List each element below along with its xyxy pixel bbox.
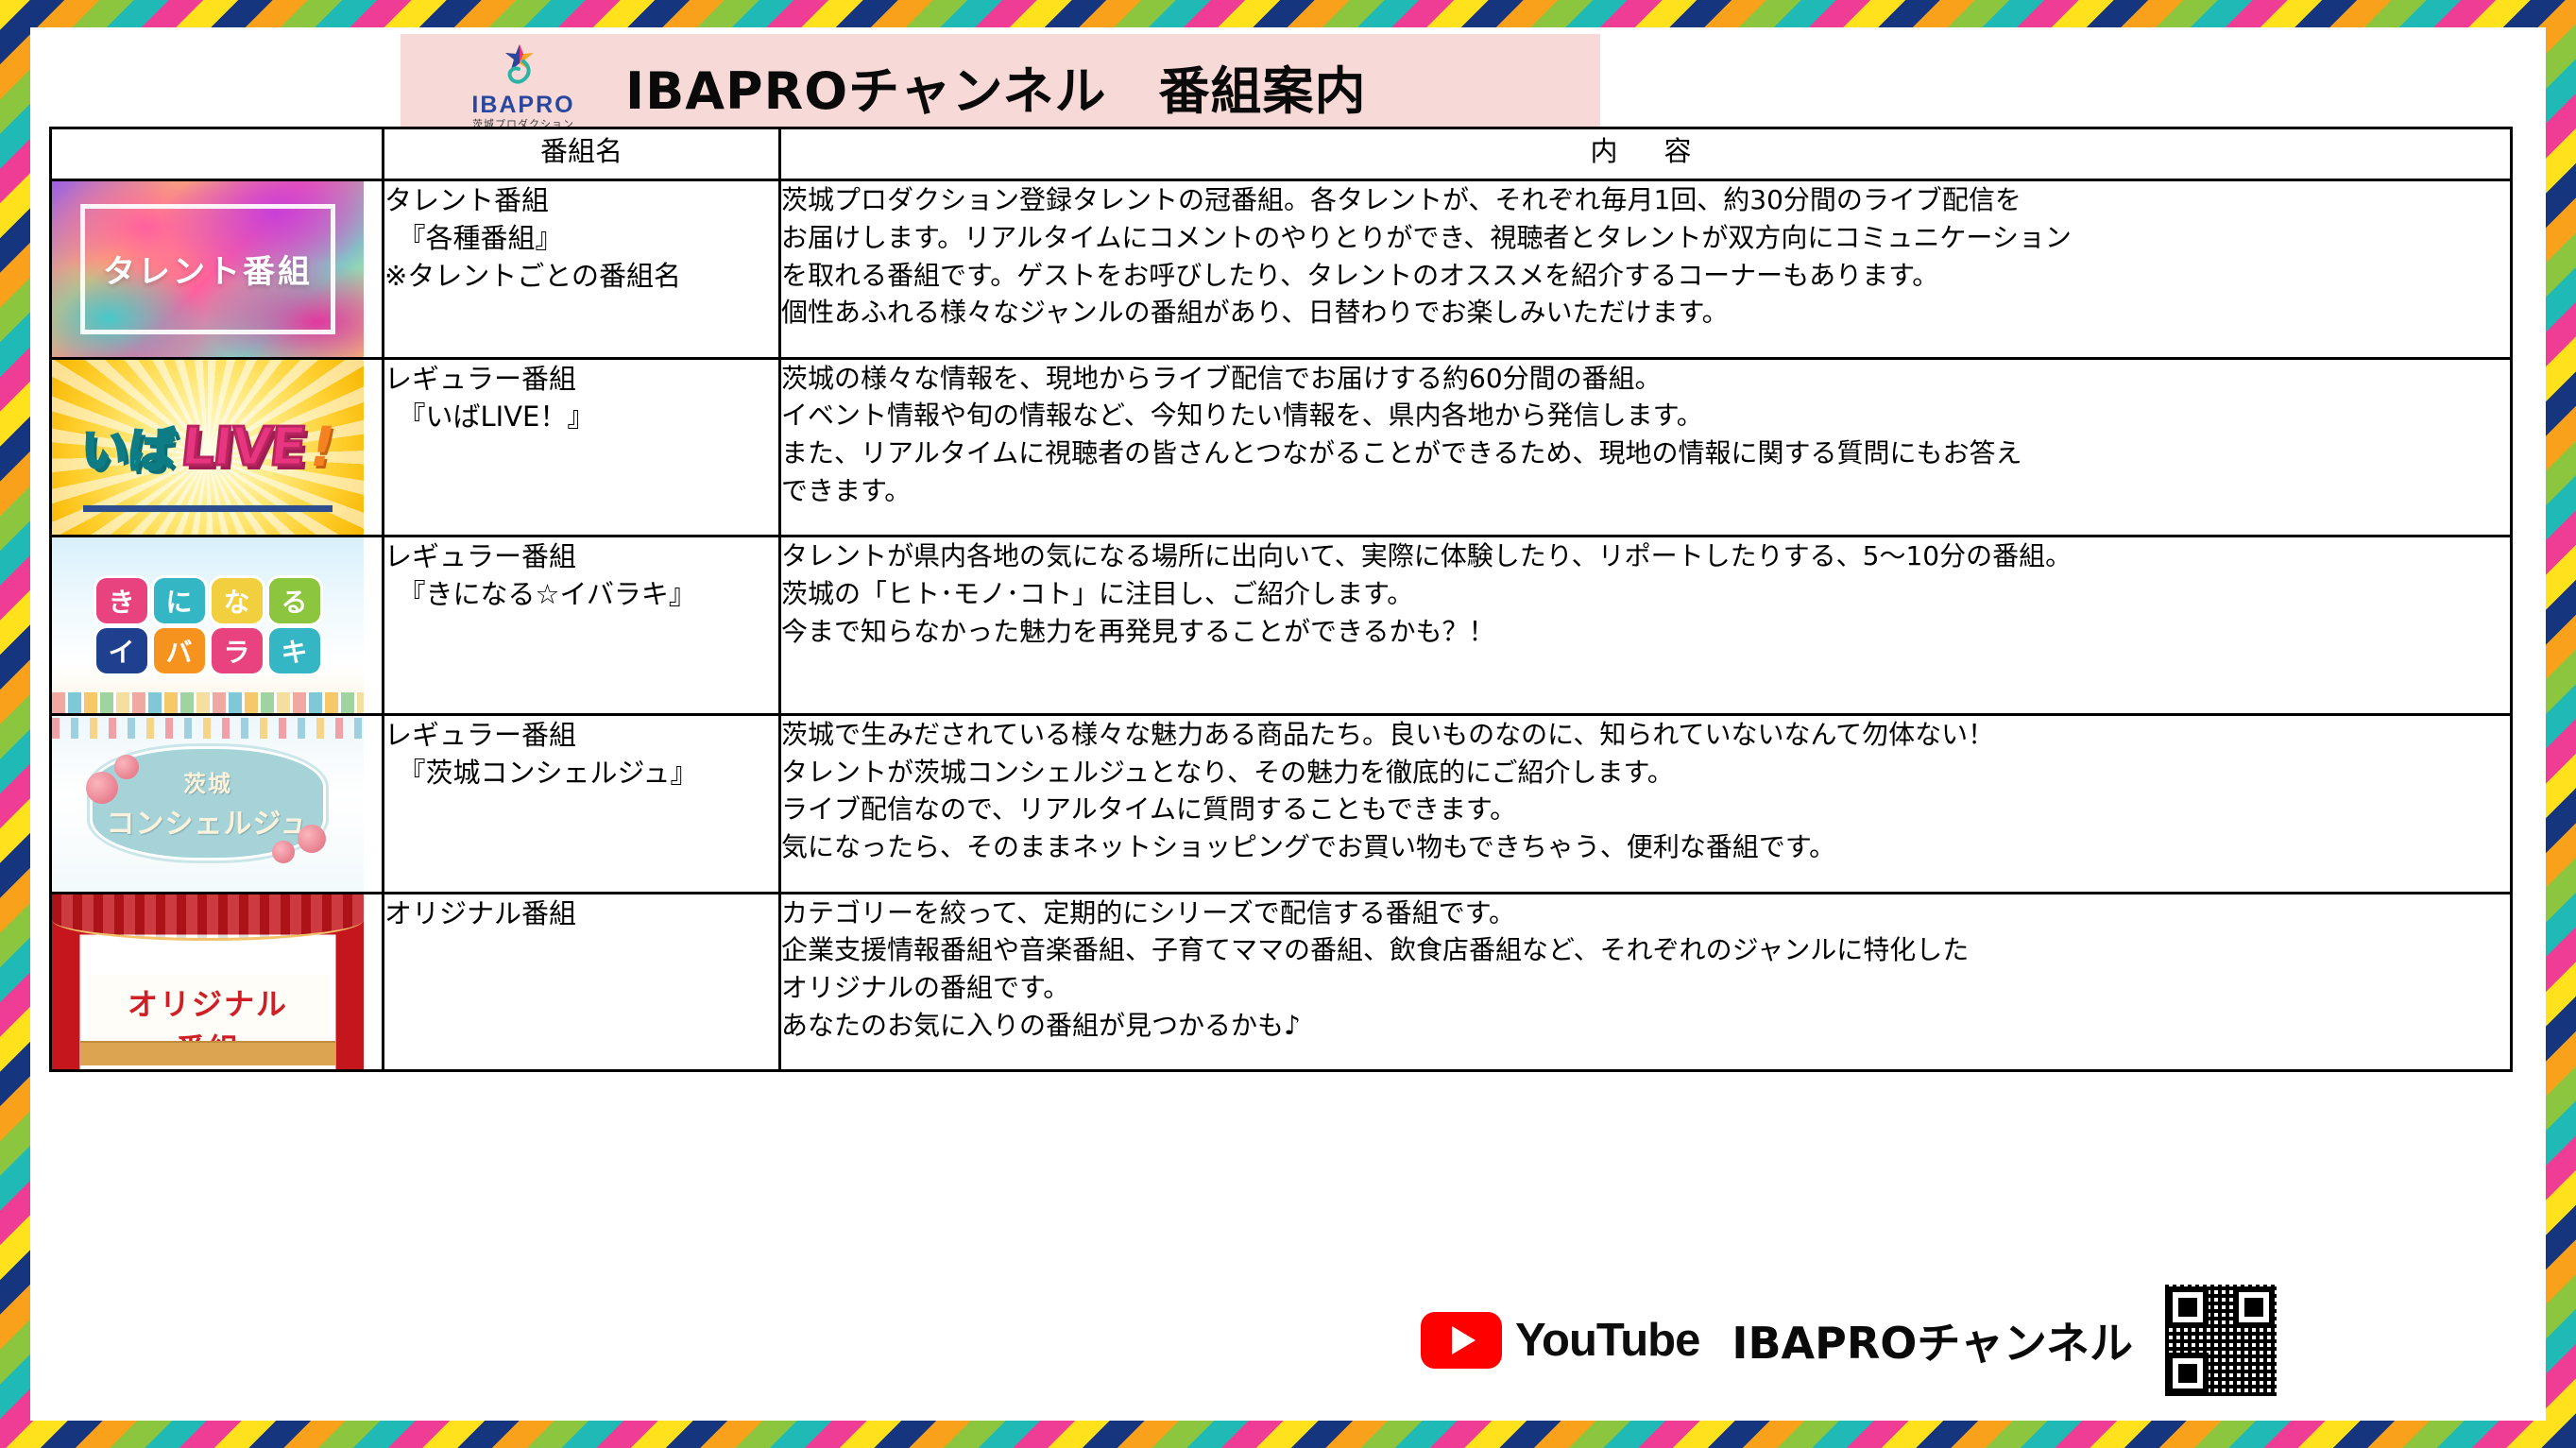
kininaru-tile: き (96, 578, 147, 623)
play-triangle-icon (1452, 1326, 1476, 1354)
program-name-ibalive: レギュラー番組 『いばLIVE！』 (384, 358, 780, 537)
table-header-row: 番組名 内 容 (51, 128, 2512, 180)
thumbnail-ibalive-program: いば LIVE ! (52, 360, 364, 536)
kininaru-tile: バ (154, 628, 205, 673)
thumbnail-kininaru-row2: イ バ ラ キ (96, 628, 320, 673)
table-row: オリジナル 番組 オリジナル番組 カテゴリーを絞って、定期的にシリーズで配信する… (51, 893, 2512, 1071)
program-name-talent: タレント番組 『各種番組』 ※タレントごとの番組名 (384, 180, 780, 359)
program-description-concierge: 茨城で生みだされている様々な魅力ある商品たち。良いものなのに、知られていないなん… (780, 714, 2512, 893)
thumbnail-concierge-program: 茨城 コンシェルジュ (52, 716, 364, 892)
kininaru-tile: に (154, 578, 205, 623)
footer-bar: YouTube IBAPROチャンネル (1421, 1285, 2277, 1396)
original-line1: オリジナル (128, 980, 288, 1024)
lightning-bolt-icon: ! (303, 415, 342, 479)
concierge-line2: コンシェルジュ (107, 800, 310, 842)
table-row: き に な る イ バ ラ キ レギュラー番 (51, 537, 2512, 715)
kininaru-tile: キ (269, 628, 320, 673)
page-title: IBAPROチャンネル 番組案内 (625, 49, 1600, 124)
youtube-logo[interactable]: YouTube (1421, 1312, 1699, 1369)
bunting-flags-icon (52, 718, 364, 739)
ibapro-logo-wordmark: IBAPRO (471, 94, 574, 117)
townscape-illustration (52, 692, 364, 713)
table-row: タレント番組 タレント番組 『各種番組』 ※タレントごとの番組名 茨城プロダクシ… (51, 180, 2512, 359)
thumbnail-talent-program: タレント番組 (52, 181, 364, 357)
thumbnail-live-text: LIVE (178, 417, 307, 478)
header-thumbnail (51, 128, 384, 180)
thumbnail-cell-original: オリジナル 番組 (51, 893, 384, 1071)
kininaru-tile: る (269, 578, 320, 623)
ibapro-star-figure-icon (495, 43, 552, 92)
program-description-kininaru: タレントが県内各地の気になる場所に出向いて、実際に体験したり、リポートしたりする… (780, 537, 2512, 715)
program-description-original: カテゴリーを絞って、定期的にシリーズで配信する番組です。 企業支援情報番組や音楽… (780, 893, 2512, 1071)
kininaru-tile: ラ (212, 628, 263, 673)
program-description-talent: 茨城プロダクション登録タレントの冠番組。各タレントが、それぞれ毎月1回、約30分… (780, 180, 2512, 359)
thumbnail-cell-kininaru: き に な る イ バ ラ キ (51, 537, 384, 715)
rose-icon (272, 841, 295, 863)
thumbnail-underline-bar (83, 505, 333, 512)
thumbnail-ibalive-logo: いば LIVE ! (81, 413, 335, 481)
ibapro-logo: IBAPRO 茨城プロダクション (448, 43, 599, 130)
qr-finder-icon (2167, 1286, 2209, 1328)
concierge-line1: 茨城 (183, 765, 232, 798)
title-banner: IBAPRO 茨城プロダクション IBAPROチャンネル 番組案内 (401, 34, 1600, 138)
thumbnail-kininaru-row1: き に な る (96, 578, 320, 623)
thumbnail-original-program: オリジナル 番組 (52, 894, 364, 1070)
thumbnail-kininaru-program: き に な る イ バ ラ キ (52, 537, 364, 713)
thumbnail-cell-ibalive: いば LIVE ! (51, 358, 384, 537)
thumbnail-cell-talent: タレント番組 (51, 180, 384, 359)
qr-code[interactable] (2165, 1285, 2277, 1396)
stage-floor (80, 1041, 336, 1065)
youtube-wordmark: YouTube (1515, 1314, 1699, 1367)
kininaru-tile: イ (96, 628, 147, 673)
table-row: 茨城 コンシェルジュ レギュラー番組 『茨城コンシェルジュ』 茨城で生みだされて… (51, 714, 2512, 893)
thumbnail-iba-text: いば (78, 413, 178, 481)
program-name-original: オリジナル番組 (384, 893, 780, 1071)
thumbnail-talent-label: タレント番組 (103, 246, 313, 292)
qr-finder-icon (2233, 1286, 2275, 1328)
rose-icon (298, 825, 326, 853)
thumbnail-cell-concierge: 茨城 コンシェルジュ (51, 714, 384, 893)
page-surface: IBAPRO 茨城プロダクション IBAPROチャンネル 番組案内 番組名 内 … (32, 29, 2544, 1419)
header-description: 内 容 (780, 128, 2512, 180)
youtube-play-icon (1421, 1312, 1502, 1369)
rose-icon (114, 755, 139, 779)
kininaru-tile: な (212, 578, 263, 623)
table-row: いば LIVE ! レギュラー番組 『いばLIVE！』 茨城の様々な情報を、現地… (51, 358, 2512, 537)
qr-finder-icon (2167, 1353, 2209, 1394)
program-guide-table: 番組名 内 容 タレント番組 タレント番組 『各種番組』 ※タレントごとの番組名… (49, 127, 2513, 1072)
program-name-kininaru: レギュラー番組 『きになる☆イバラキ』 (384, 537, 780, 715)
youtube-channel-name: IBAPROチャンネル (1732, 1309, 2133, 1371)
program-name-concierge: レギュラー番組 『茨城コンシェルジュ』 (384, 714, 780, 893)
program-description-ibalive: 茨城の様々な情報を、現地からライブ配信でお届けする約60分間の番組。 イベント情… (780, 358, 2512, 537)
header-program-name: 番組名 (384, 128, 780, 180)
